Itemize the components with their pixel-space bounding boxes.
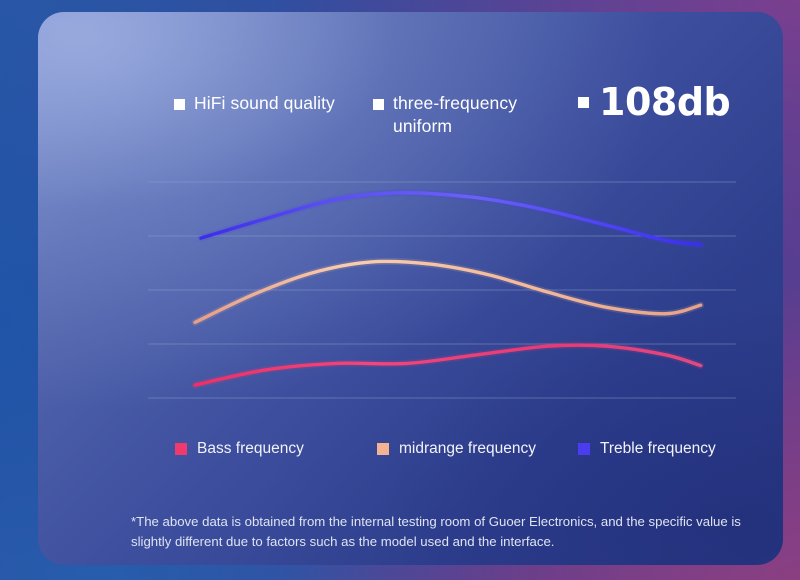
square-swatch-icon <box>377 443 389 455</box>
feature-label: 108db <box>599 83 730 121</box>
legend-item-bass-frequency: Bass frequency <box>175 440 304 458</box>
legend-item-midrange-frequency: midrange frequency <box>377 440 536 458</box>
feature-label: three-frequency uniform <box>393 92 523 138</box>
feature-hifi-sound-quality: HiFi sound quality <box>174 92 335 115</box>
square-marker-icon <box>174 99 185 110</box>
square-swatch-icon <box>175 443 187 455</box>
frequency-response-chart <box>148 170 738 410</box>
series-glow-midrange-frequency <box>195 261 701 322</box>
chart-legend: Bass frequency midrange frequency Treble… <box>148 440 748 464</box>
chart-gridlines <box>148 182 736 398</box>
series-glow-treble-frequency <box>201 193 701 245</box>
legend-item-treble-frequency: Treble frequency <box>578 440 716 458</box>
feature-three-frequency-uniform: three-frequency uniform <box>373 92 523 138</box>
square-marker-icon <box>373 99 384 110</box>
feature-108db: 108db <box>578 83 730 121</box>
info-card: HiFi sound quality three-frequency unifo… <box>38 12 783 565</box>
legend-label: Bass frequency <box>197 440 304 458</box>
legend-label: midrange frequency <box>399 440 536 458</box>
chart-canvas <box>148 170 738 410</box>
square-swatch-icon <box>578 443 590 455</box>
square-marker-icon <box>578 97 589 108</box>
series-glow-bass-frequency <box>195 345 701 385</box>
legend-label: Treble frequency <box>600 440 716 458</box>
feature-highlights: HiFi sound quality three-frequency unifo… <box>136 90 736 152</box>
feature-label: HiFi sound quality <box>194 92 335 115</box>
footnote-disclaimer: *The above data is obtained from the int… <box>131 512 761 552</box>
chart-series-group <box>195 193 701 385</box>
